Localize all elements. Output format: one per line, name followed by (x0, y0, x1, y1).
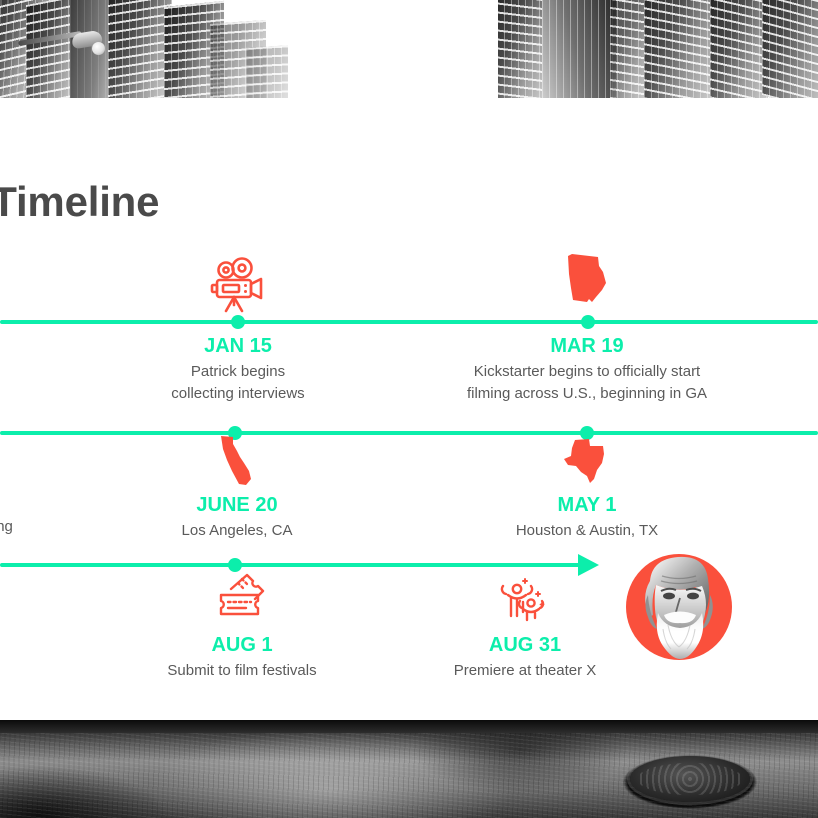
building-shape (762, 0, 818, 98)
building-cluster-right (498, 0, 818, 98)
milestone-description: Kickstarter begins to officially start f… (438, 361, 736, 405)
building-shape (542, 0, 616, 98)
cutoff-text-left: n & editing (0, 518, 13, 535)
milestone-description: Houston & Austin, TX (448, 520, 726, 542)
california-state-icon (213, 433, 261, 493)
portrait (626, 554, 732, 660)
street-lamp-bulb (92, 42, 105, 55)
milestone-date: AUG 1 (102, 634, 382, 657)
timeline-line-2 (0, 431, 818, 435)
page-title: t Timeline (0, 178, 159, 226)
header-photo (0, 0, 818, 98)
timeline-arrow-head (578, 554, 599, 576)
milestone-mar-19[interactable]: MAR 19 Kickstarter begins to officially … (438, 335, 736, 405)
celebration-icon (497, 572, 553, 624)
tickets-icon (214, 572, 270, 624)
building-shape (108, 0, 172, 98)
milestone-aug-31[interactable]: AUG 31 Premiere at theater X (386, 634, 664, 682)
building-shape (246, 44, 288, 98)
milestone-date: JUNE 20 (96, 494, 378, 517)
movie-camera-icon (207, 257, 269, 315)
manhole-cover (630, 756, 750, 802)
timeline-dot-jan-15 (231, 315, 245, 329)
texas-state-icon (559, 434, 615, 488)
milestone-june-20[interactable]: JUNE 20 Los Angeles, CA (96, 494, 378, 542)
milestone-description: Patrick begins collecting interviews (97, 361, 379, 405)
building-shape (644, 0, 714, 98)
milestone-aug-1[interactable]: AUG 1 Submit to film festivals (102, 634, 382, 682)
milestone-jan-15[interactable]: JAN 15 Patrick begins collecting intervi… (97, 335, 379, 405)
milestone-description: Premiere at theater X (386, 660, 664, 682)
timeline-dot-aug-1 (228, 558, 242, 572)
milestone-description: Los Angeles, CA (96, 520, 378, 542)
milestone-date: JAN 15 (97, 335, 379, 358)
milestone-description: Submit to film festivals (102, 660, 382, 682)
milestone-date: AUG 31 (386, 634, 664, 657)
milestone-date: MAR 19 (438, 335, 736, 358)
timeline-line-3 (0, 563, 580, 567)
milestone-may-1[interactable]: MAY 1 Houston & Austin, TX (448, 494, 726, 542)
timeline-line-1 (0, 320, 818, 324)
georgia-state-icon (558, 250, 616, 312)
footer-photo (0, 720, 818, 818)
portrait-face-image (630, 551, 728, 663)
building-cluster-left (0, 0, 288, 98)
building-shape (710, 0, 768, 98)
milestone-date: MAY 1 (448, 494, 726, 517)
slide-canvas: t Timeline JAN 15 Patr (0, 0, 818, 818)
timeline-dot-mar-19 (581, 315, 595, 329)
building-shape (498, 0, 546, 98)
